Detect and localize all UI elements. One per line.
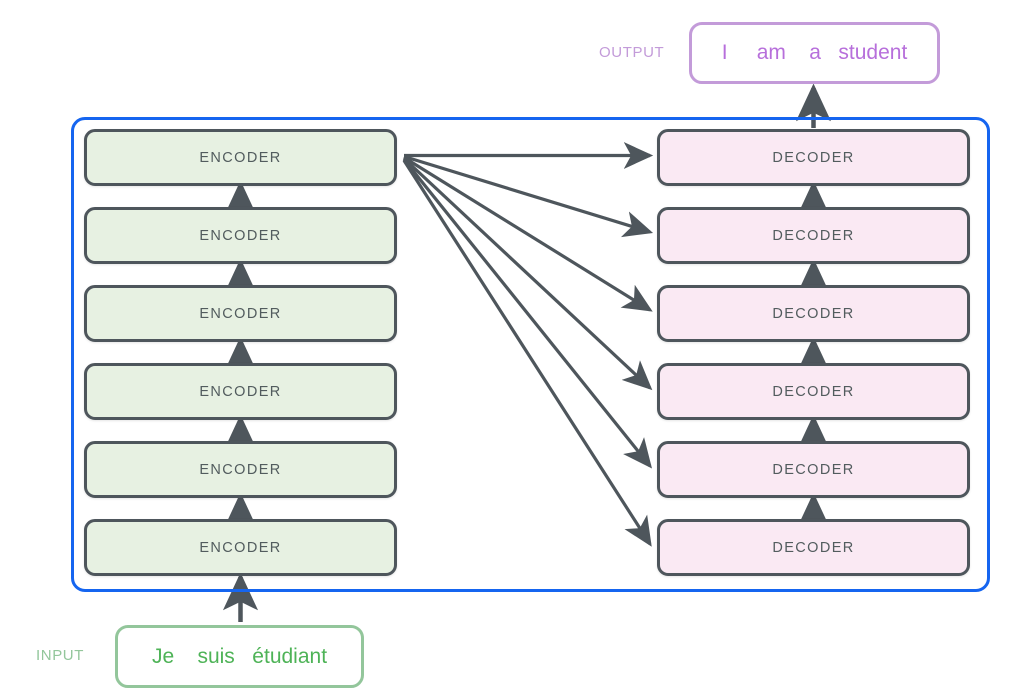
encoder-block-label: ENCODER [199, 384, 281, 400]
decoder-block-3[interactable]: DECODER [657, 285, 970, 342]
input-label: INPUT [36, 647, 84, 664]
encoder-block-5[interactable]: ENCODER [84, 441, 397, 498]
output-box[interactable]: I am a student [689, 22, 940, 84]
decoder-block-label: DECODER [772, 228, 854, 244]
decoder-stack: DECODER DECODER DECODER DECODER DECODER … [657, 129, 970, 576]
input-text: Je suis étudiant [152, 645, 327, 669]
encoder-block-3[interactable]: ENCODER [84, 285, 397, 342]
decoder-block-label: DECODER [772, 540, 854, 556]
encoder-block-1[interactable]: ENCODER [84, 129, 397, 186]
decoder-block-2[interactable]: DECODER [657, 207, 970, 264]
encoder-block-4[interactable]: ENCODER [84, 363, 397, 420]
encoder-block-label: ENCODER [199, 150, 281, 166]
encoder-block-6[interactable]: ENCODER [84, 519, 397, 576]
encoder-block-2[interactable]: ENCODER [84, 207, 397, 264]
decoder-block-label: DECODER [772, 462, 854, 478]
decoder-block-label: DECODER [772, 306, 854, 322]
encoder-block-label: ENCODER [199, 228, 281, 244]
output-label: OUTPUT [599, 44, 664, 61]
decoder-block-4[interactable]: DECODER [657, 363, 970, 420]
input-box[interactable]: Je suis étudiant [115, 625, 364, 688]
encoder-block-label: ENCODER [199, 462, 281, 478]
transformer-diagram: ENCODER ENCODER ENCODER ENCODER ENCODER … [0, 0, 1012, 700]
encoder-block-label: ENCODER [199, 306, 281, 322]
decoder-block-5[interactable]: DECODER [657, 441, 970, 498]
decoder-block-1[interactable]: DECODER [657, 129, 970, 186]
encoder-stack: ENCODER ENCODER ENCODER ENCODER ENCODER … [84, 129, 397, 576]
encoder-block-label: ENCODER [199, 540, 281, 556]
output-text: I am a student [722, 41, 908, 65]
decoder-block-label: DECODER [772, 384, 854, 400]
decoder-block-6[interactable]: DECODER [657, 519, 970, 576]
decoder-block-label: DECODER [772, 150, 854, 166]
